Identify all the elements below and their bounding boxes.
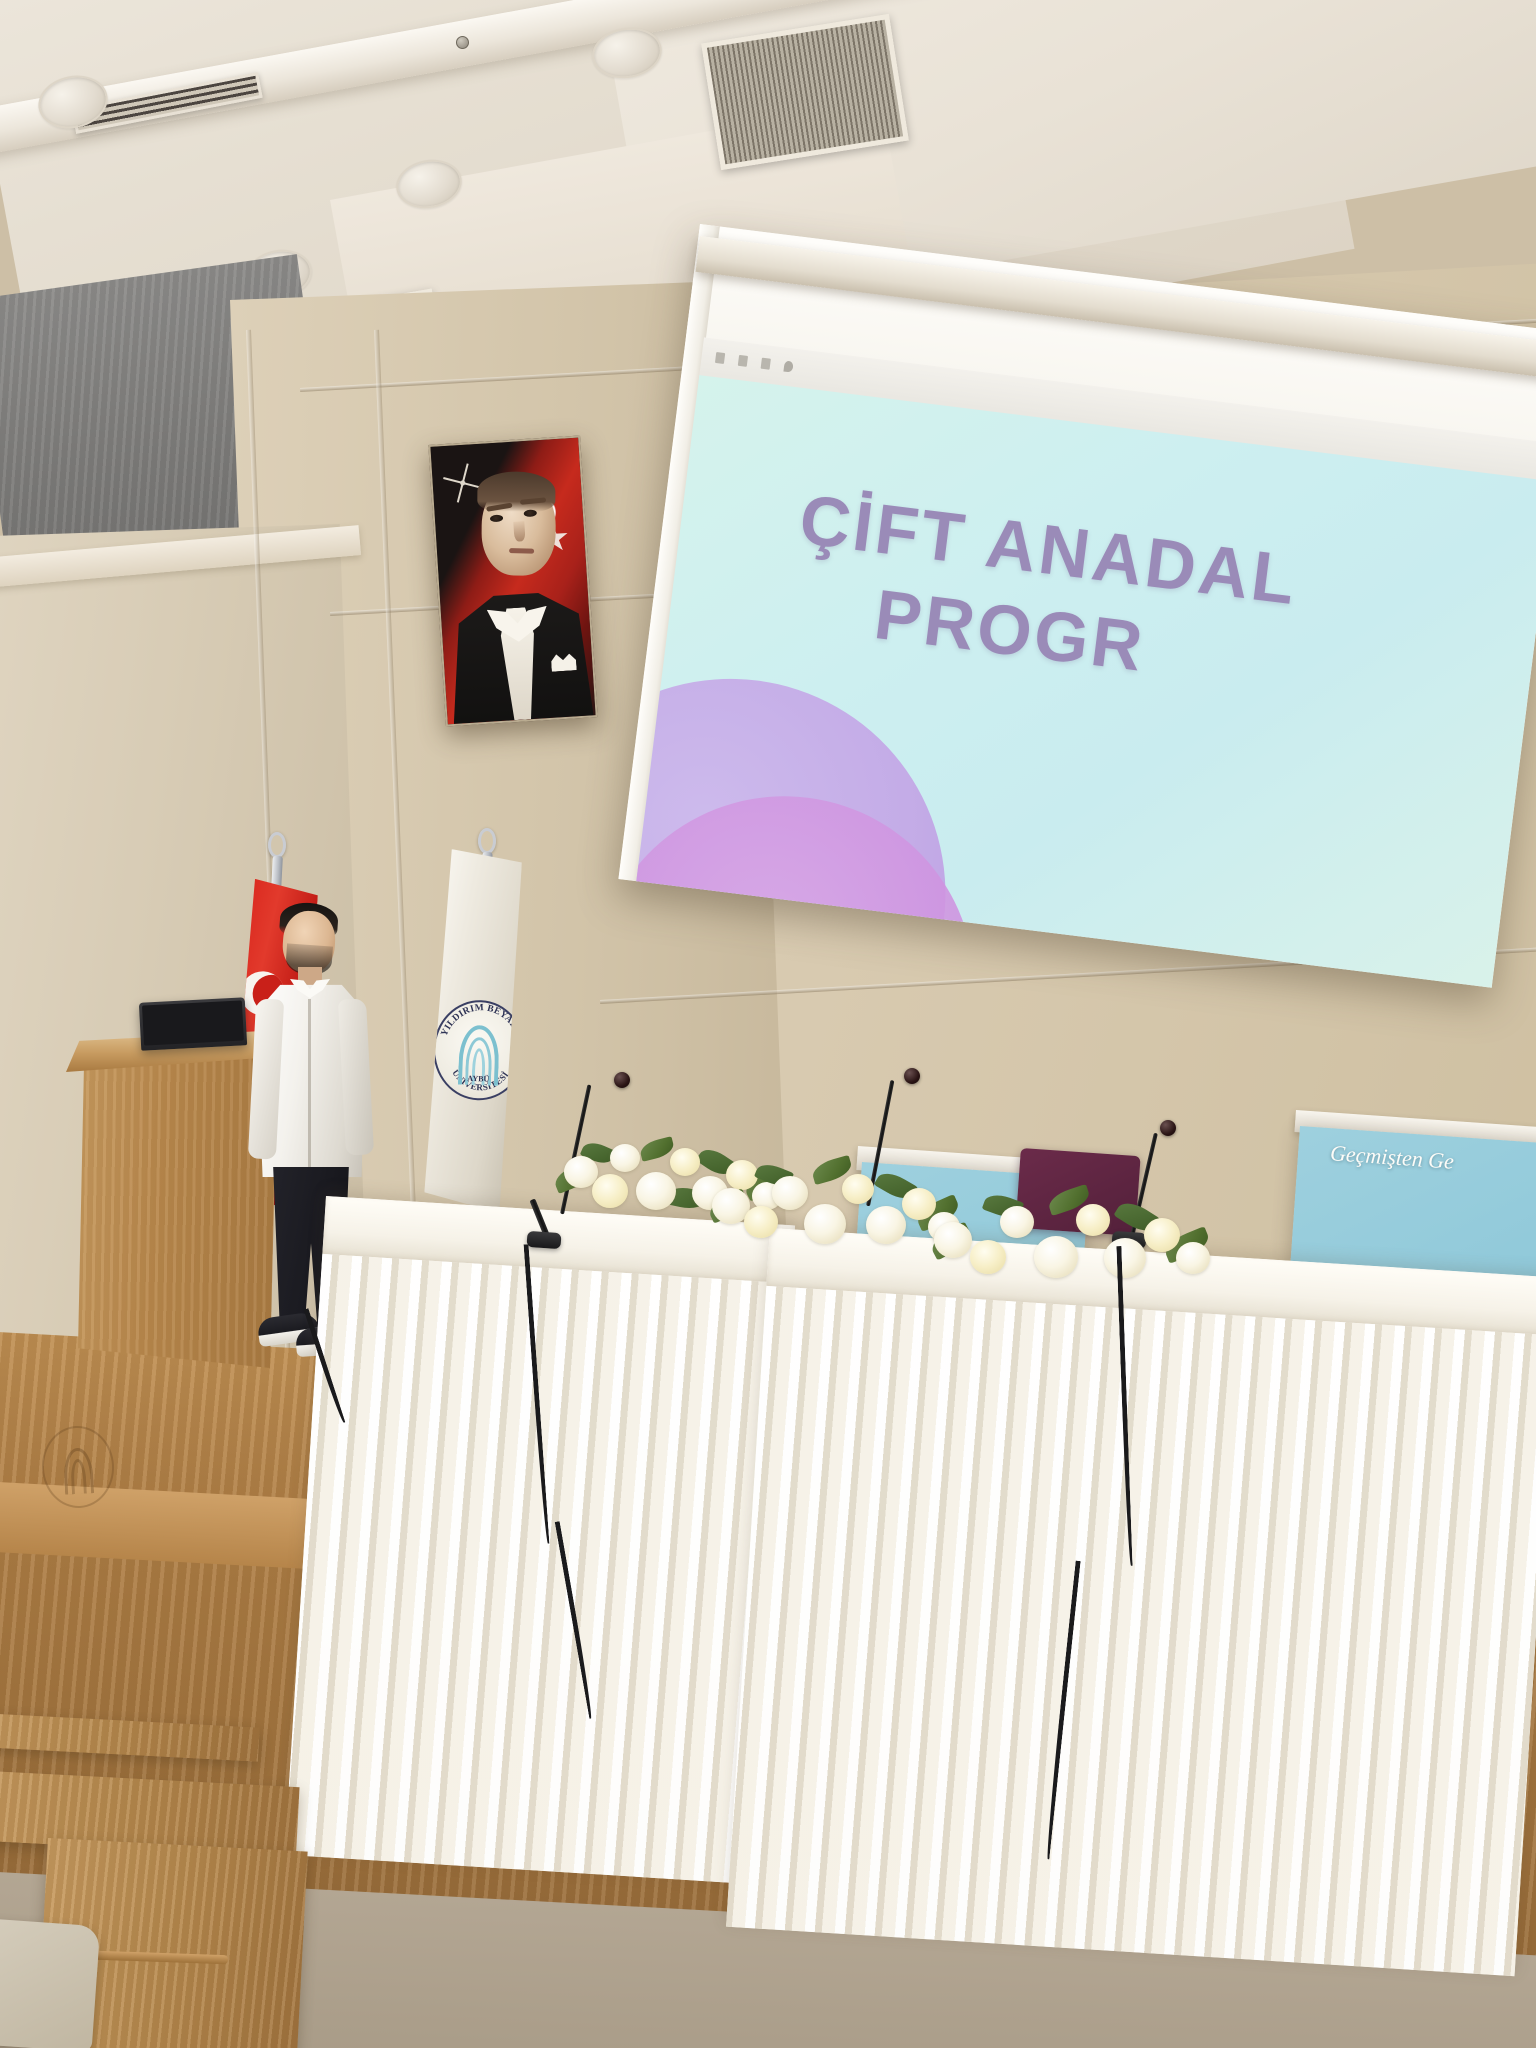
fire-sprinkler-icon (456, 36, 469, 49)
portrait-mouth (509, 548, 534, 554)
table-skirt (285, 1254, 792, 1884)
head-table-right (726, 1228, 1536, 1976)
flower-rose (592, 1174, 628, 1208)
flower-rose (1034, 1236, 1078, 1278)
flag-finial-university (478, 828, 496, 854)
flower-rose (772, 1176, 808, 1210)
laptop-on-podium (139, 997, 247, 1050)
head-table-left (285, 1196, 796, 1884)
microphone-capsule-middle (904, 1068, 920, 1084)
slide-title: ÇİFT ANADAL PROGR (784, 477, 1536, 740)
flower-rose (1000, 1206, 1034, 1238)
flower-rose (610, 1144, 640, 1172)
flower-rose (866, 1206, 906, 1244)
conference-hall-photo: ÇİFT ANADAL PROGR ANKARA YILDIRIM BEYAZI… (0, 0, 1536, 2048)
microphone-capsule-right (1160, 1120, 1176, 1136)
toolbar-icon-1 (715, 352, 725, 364)
microphone-capsule-left (614, 1072, 630, 1088)
flower-rose (934, 1222, 972, 1258)
floral-arrangement-right (920, 1180, 1220, 1300)
flag-finial-turkish (268, 832, 286, 858)
flower-rose (1144, 1218, 1180, 1252)
toolbar-icon-2 (738, 355, 748, 367)
presenter-shirt-placket (308, 999, 311, 1169)
toolbar-icon-3 (761, 358, 771, 370)
search-icon (783, 361, 793, 373)
flower-rose (670, 1148, 700, 1176)
ataturk-portrait (428, 436, 597, 727)
auditorium-chair-foreground[interactable] (0, 1918, 100, 2048)
banner-tagline: Geçmişten Ge (1329, 1140, 1455, 1175)
flower-rose (1104, 1238, 1146, 1278)
flower-rose (636, 1172, 676, 1210)
flower-rose (1076, 1204, 1110, 1236)
flower-rose (970, 1240, 1006, 1274)
table-skirt (726, 1286, 1536, 1976)
flower-rose (804, 1204, 846, 1244)
flower-rose (744, 1206, 778, 1238)
flower-rose (842, 1174, 874, 1204)
toolbar-icons (715, 352, 794, 373)
lectern-podium (78, 1038, 278, 1368)
podium-wood-grain (78, 1038, 278, 1368)
portrait-nose (513, 521, 525, 542)
presentation-slide: ÇİFT ANADAL PROGR (636, 375, 1536, 988)
flower-rose (1176, 1242, 1210, 1274)
